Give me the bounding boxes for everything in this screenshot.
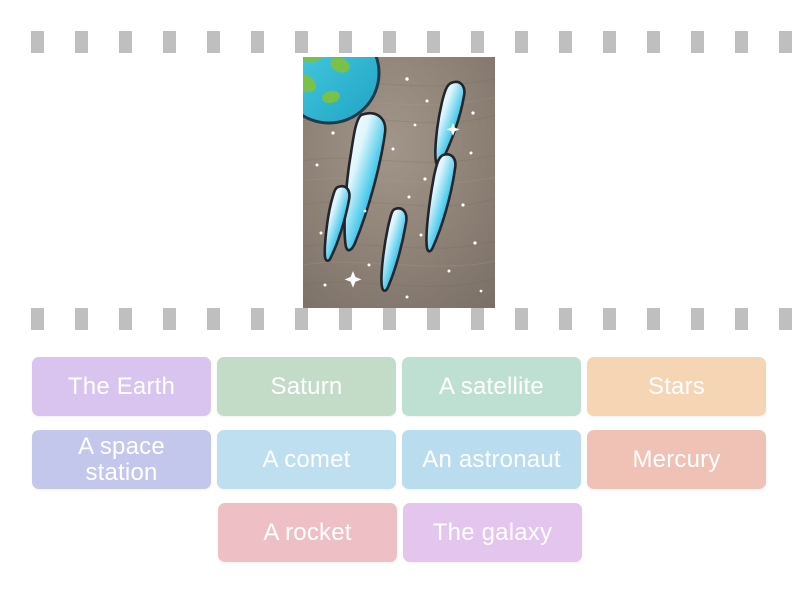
answer-tile-the-earth[interactable]: The Earth (32, 357, 211, 416)
divider-dash (119, 31, 132, 53)
answer-tile-mercury[interactable]: Mercury (587, 430, 766, 489)
answer-tile-an-astronaut[interactable]: An astronaut (402, 430, 581, 489)
divider-dash (559, 31, 572, 53)
divider-dash (207, 31, 220, 53)
divider-dash (691, 308, 704, 330)
answer-row-1: The Earth Saturn A satellite Stars (32, 357, 768, 416)
dashed-divider-top (0, 31, 800, 53)
divider-dash (603, 31, 616, 53)
divider-dash (559, 308, 572, 330)
divider-dash (339, 31, 352, 53)
divider-dash (735, 308, 748, 330)
divider-dash (207, 308, 220, 330)
divider-dash (31, 308, 44, 330)
divider-dash (339, 308, 352, 330)
answer-row-2: A space station A comet An astronaut Mer… (32, 430, 768, 489)
divider-dash (251, 31, 264, 53)
divider-dash (163, 308, 176, 330)
divider-dash (691, 31, 704, 53)
divider-dash (603, 308, 616, 330)
divider-dash (779, 308, 792, 330)
divider-dash (647, 31, 660, 53)
divider-dash (383, 31, 396, 53)
answer-tile-the-galaxy[interactable]: The galaxy (403, 503, 582, 562)
answer-tile-a-space-station[interactable]: A space station (32, 430, 211, 489)
divider-dash (75, 31, 88, 53)
answer-tile-a-rocket[interactable]: A rocket (218, 503, 397, 562)
divider-dash (75, 308, 88, 330)
answer-tile-stars[interactable]: Stars (587, 357, 766, 416)
divider-dash (383, 308, 396, 330)
divider-dash (163, 31, 176, 53)
divider-dash (427, 308, 440, 330)
answer-tile-saturn[interactable]: Saturn (217, 357, 396, 416)
divider-dash (515, 308, 528, 330)
divider-dash (515, 31, 528, 53)
answer-row-3: A rocket The galaxy (218, 503, 582, 562)
divider-dash (735, 31, 748, 53)
divider-dash (295, 31, 308, 53)
divider-dash (647, 308, 660, 330)
comet-illustration (303, 57, 495, 308)
quiz-canvas: The Earth Saturn A satellite Stars A spa… (0, 0, 800, 600)
divider-dash (427, 31, 440, 53)
divider-dash (471, 308, 484, 330)
answer-tile-a-satellite[interactable]: A satellite (402, 357, 581, 416)
dashed-divider-bottom (0, 308, 800, 330)
divider-dash (251, 308, 264, 330)
answer-tile-a-comet[interactable]: A comet (217, 430, 396, 489)
divider-dash (119, 308, 132, 330)
divider-dash (779, 31, 792, 53)
divider-dash (471, 31, 484, 53)
divider-dash (295, 308, 308, 330)
divider-dash (31, 31, 44, 53)
